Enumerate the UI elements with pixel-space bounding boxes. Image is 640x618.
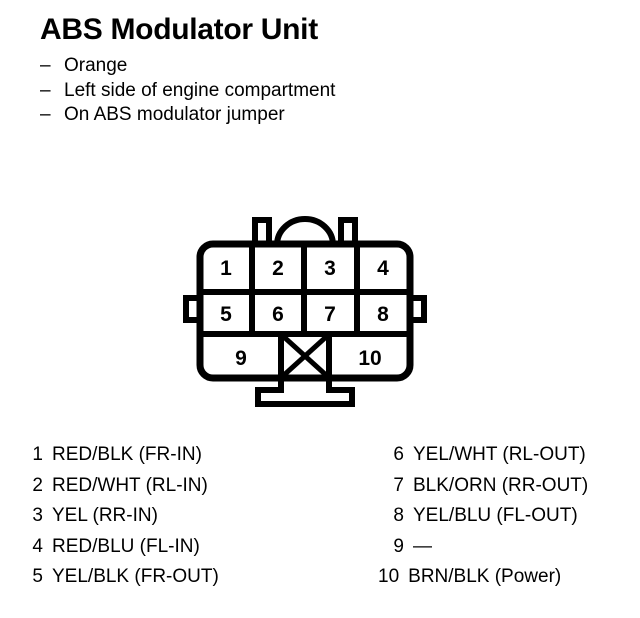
pin-label-1: 1	[220, 257, 232, 280]
pin-label-5: 5	[220, 303, 232, 326]
page-title: ABS Modulator Unit	[40, 12, 600, 48]
legend-pin-number: 6	[391, 440, 404, 471]
header-bullet-item: – On ABS modulator jumper	[40, 103, 600, 128]
legend-pin-description: RED/BLK (FR-IN)	[52, 440, 202, 471]
connector-svg: 1 2 3 4 5 6 7 8 9 10	[180, 198, 430, 418]
header-bullet-item: – Left side of engine compartment	[40, 79, 600, 104]
legend-pin-description: BLK/ORN (RR-OUT)	[413, 471, 588, 502]
legend-item: 2 RED/WHT (RL-IN)	[30, 471, 219, 502]
legend-pin-number: 8	[391, 501, 404, 532]
legend-pin-description: YEL/BLU (FL-OUT)	[413, 501, 578, 532]
legend-item: 8 YEL/BLU (FL-OUT)	[391, 501, 588, 532]
pin-label-9: 9	[235, 347, 247, 370]
legend-pin-number: 3	[30, 501, 43, 532]
legend-pin-description: RED/BLU (FL-IN)	[52, 532, 200, 563]
pin-label-3: 3	[324, 257, 336, 280]
dash-icon: –	[40, 54, 64, 79]
legend-item: 1 RED/BLK (FR-IN)	[30, 440, 219, 471]
legend-pin-number: 1	[30, 440, 43, 471]
dash-icon: –	[40, 103, 64, 128]
legend-pin-description: RED/WHT (RL-IN)	[52, 471, 208, 502]
legend-item: 10 BRN/BLK (Power)	[391, 562, 588, 593]
header-bullet-label: Orange	[64, 54, 127, 79]
legend-item: 6 YEL/WHT (RL-OUT)	[391, 440, 588, 471]
pin-label-7: 7	[324, 303, 336, 326]
legend-pin-description: YEL (RR-IN)	[52, 501, 158, 532]
header-bullet-label: Left side of engine compartment	[64, 79, 335, 104]
header-block: ABS Modulator Unit – Orange – Left side …	[40, 12, 600, 128]
pin-label-10: 10	[358, 347, 381, 370]
legend-item: 4 RED/BLU (FL-IN)	[30, 532, 219, 563]
pin-label-6: 6	[272, 303, 284, 326]
pin-legend: 1 RED/BLK (FR-IN) 2 RED/WHT (RL-IN) 3 YE…	[0, 440, 640, 600]
legend-pin-description: YEL/BLK (FR-OUT)	[52, 562, 219, 593]
header-bullet-list: – Orange – Left side of engine compartme…	[40, 54, 600, 128]
legend-pin-number: 5	[30, 562, 43, 593]
legend-pin-number: 7	[391, 471, 404, 502]
pin-label-4: 4	[377, 257, 389, 280]
legend-item: 9 —	[391, 532, 588, 563]
top-tab-left-icon	[255, 220, 269, 244]
pin-label-8: 8	[377, 303, 389, 326]
legend-item: 3 YEL (RR-IN)	[30, 501, 219, 532]
legend-pin-number: 2	[30, 471, 43, 502]
legend-item: 5 YEL/BLK (FR-OUT)	[30, 562, 219, 593]
pin-legend-column-left: 1 RED/BLK (FR-IN) 2 RED/WHT (RL-IN) 3 YE…	[30, 440, 219, 593]
dash-icon: –	[40, 79, 64, 104]
legend-pin-number: 10	[378, 562, 399, 593]
connector-diagram: 1 2 3 4 5 6 7 8 9 10	[180, 198, 430, 418]
legend-pin-description: YEL/WHT (RL-OUT)	[413, 440, 586, 471]
legend-pin-number: 9	[391, 532, 404, 563]
pin-legend-column-right: 6 YEL/WHT (RL-OUT) 7 BLK/ORN (RR-OUT) 8 …	[391, 440, 588, 593]
pin-label-2: 2	[272, 257, 284, 280]
legend-item: 7 BLK/ORN (RR-OUT)	[391, 471, 588, 502]
legend-pin-number: 4	[30, 532, 43, 563]
top-tab-right-icon	[341, 220, 355, 244]
header-bullet-label: On ABS modulator jumper	[64, 103, 285, 128]
legend-pin-description: BRN/BLK (Power)	[408, 562, 561, 593]
header-bullet-item: – Orange	[40, 54, 600, 79]
legend-pin-description: —	[413, 532, 432, 563]
